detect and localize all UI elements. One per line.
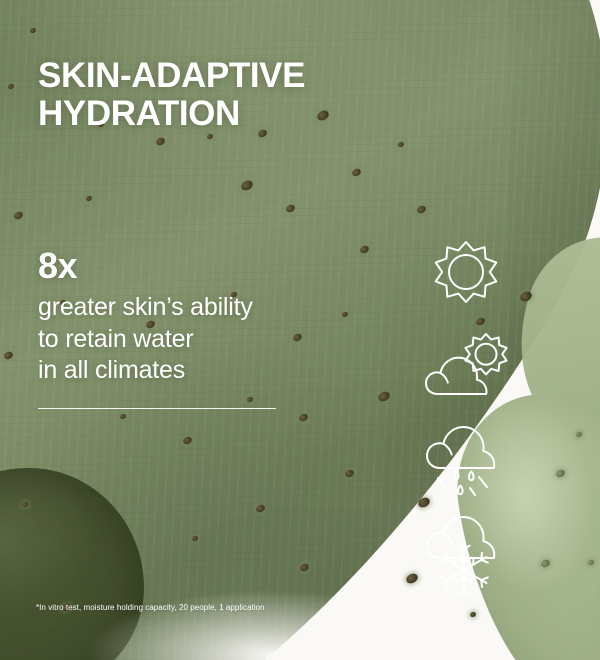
weather-icon-column — [424, 238, 534, 610]
stat-description-line-2: to retain water — [38, 324, 338, 356]
banner-content: SKIN-ADAPTIVE HYDRATION 8x greater skin’… — [0, 0, 600, 660]
stat-description: greater skin’s ability to retain water i… — [38, 292, 338, 387]
page-title: SKIN-ADAPTIVE HYDRATION — [38, 57, 368, 132]
footnote: *In vitro test, moisture holding capacit… — [36, 603, 456, 613]
cloud-snow-icon — [424, 514, 534, 600]
stat-description-line-1: greater skin’s ability — [38, 292, 338, 324]
sun-icon — [424, 238, 534, 322]
stat-figure: 8x — [38, 248, 338, 284]
sun-behind-cloud-icon — [424, 332, 534, 410]
stat-description-line-3: in all climates — [38, 355, 338, 387]
stat-block: 8x greater skin’s ability to retain wate… — [38, 248, 338, 387]
headline-line-1: SKIN-ADAPTIVE — [38, 56, 305, 95]
promo-banner: SKIN-ADAPTIVE HYDRATION 8x greater skin’… — [0, 0, 600, 660]
headline-line-2: HYDRATION — [38, 95, 368, 132]
cloud-rain-icon — [424, 420, 534, 504]
divider-rule — [38, 408, 276, 409]
